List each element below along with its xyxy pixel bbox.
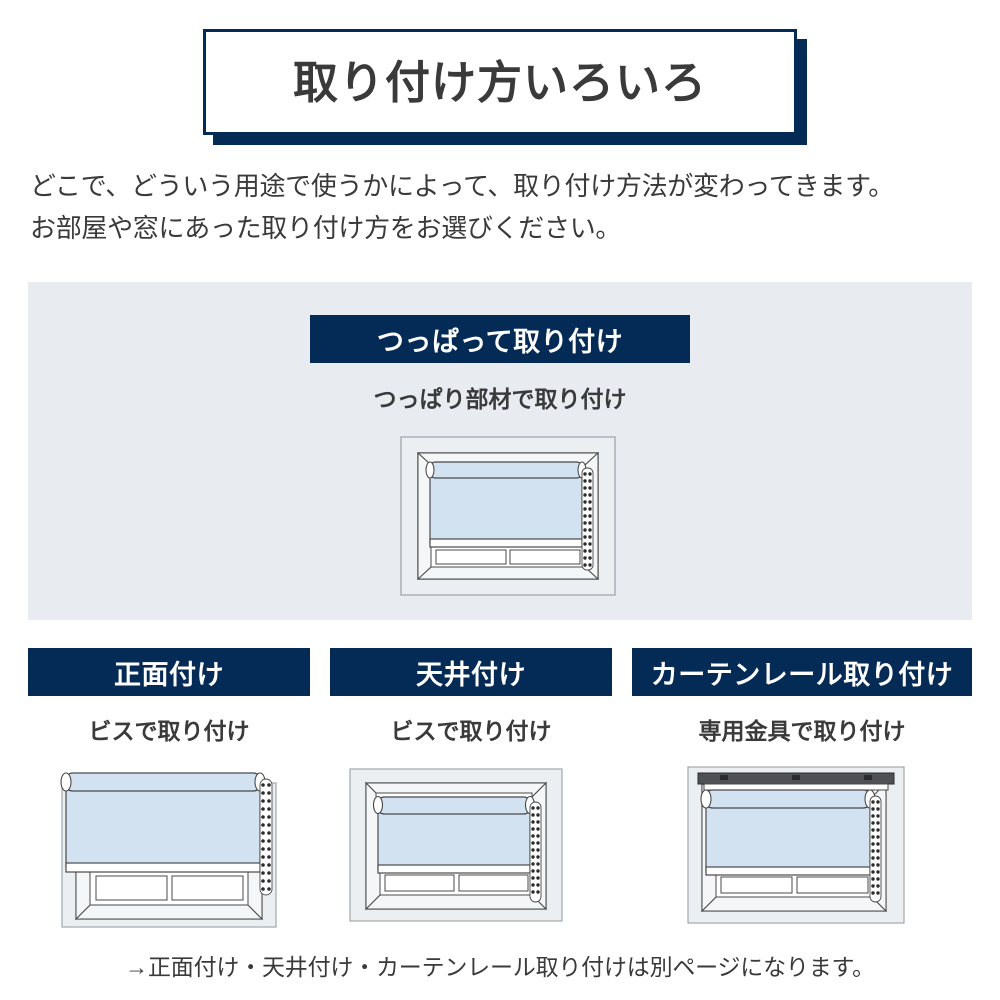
curtain-rail-mount-banner: カーテンレール取り付け bbox=[632, 648, 972, 696]
ceiling-mount-figure bbox=[330, 759, 612, 931]
column-ceiling-mount: 天井付け ビスで取り付け bbox=[330, 648, 612, 931]
lead-paragraph: どこで、どういう用途で使うかによって、取り付け方法が変わってきます。 お部屋や窓… bbox=[30, 165, 980, 249]
column-front-mount: 正面付け ビスで取り付け bbox=[28, 648, 310, 931]
tension-mount-section: つっぱって取り付け つっぱり部材で取り付け bbox=[28, 282, 972, 620]
page-title-block: 取り付け方いろいろ bbox=[203, 29, 797, 135]
front-mount-subtitle: ビスで取り付け bbox=[28, 712, 310, 746]
ceiling-mount-subtitle: ビスで取り付け bbox=[330, 712, 612, 746]
tension-mount-banner-label: つっぱって取り付け bbox=[377, 320, 623, 359]
ceiling-mount-banner-label: 天井付け bbox=[416, 653, 526, 692]
tension-mount-banner: つっぱって取り付け bbox=[310, 315, 690, 363]
curtain-rail-mount-banner-label: カーテンレール取り付け bbox=[651, 653, 954, 692]
ceiling-mount-banner: 天井付け bbox=[330, 648, 612, 696]
front-mount-banner-label: 正面付け bbox=[114, 653, 224, 692]
front-mount-banner: 正面付け bbox=[28, 648, 310, 696]
page-title: 取り付け方いろいろ bbox=[293, 60, 707, 105]
mount-method-columns: 正面付け ビスで取り付け bbox=[0, 648, 1000, 936]
tension-mount-subtitle: つっぱり部材で取り付け bbox=[28, 380, 972, 414]
column-curtain-rail-mount: カーテンレール取り付け 専用金具で取り付け bbox=[632, 648, 972, 931]
tension-mount-figure bbox=[400, 436, 616, 596]
title-box: 取り付け方いろいろ bbox=[203, 29, 797, 135]
footnote-text: →正面付け・天井付け・カーテンレール取り付けは別ページになります。 bbox=[0, 948, 1000, 982]
curtain-rail-mount-subtitle: 専用金具で取り付け bbox=[632, 712, 972, 746]
curtain-rail-mount-figure bbox=[632, 759, 972, 931]
lead-line-1: どこで、どういう用途で使うかによって、取り付け方法が変わってきます。 bbox=[30, 165, 980, 207]
front-mount-figure bbox=[28, 759, 310, 931]
lead-line-2: お部屋や窓にあった取り付け方をお選びください。 bbox=[30, 207, 980, 249]
